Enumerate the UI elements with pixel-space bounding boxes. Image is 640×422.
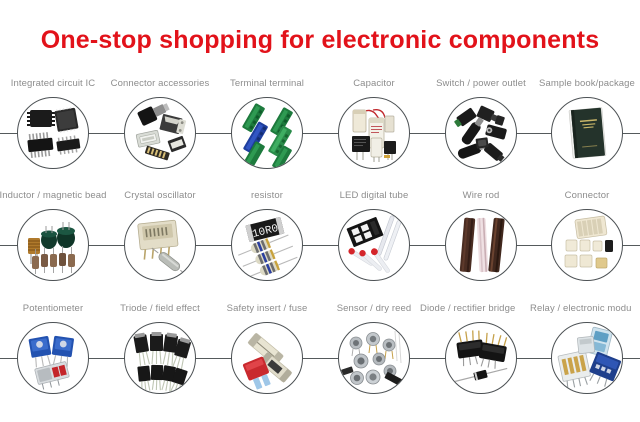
category-cell-crystal-oscillator[interactable]: Crystal oscillator (107, 190, 213, 302)
sample-book-icon (551, 97, 623, 169)
inductor-bead-icon (17, 209, 89, 281)
category-row: Inductor / magnetic bead (0, 190, 640, 302)
wire-rod-icon (445, 209, 517, 281)
category-cell-connector-accessories[interactable]: Connector accessories (107, 78, 213, 190)
category-label: Relay / electronic modu (524, 303, 640, 315)
category-cell-triode-field-effect[interactable]: Triode / field effect (107, 303, 213, 415)
category-cell-inductor-magnetic-bead[interactable]: Inductor / magnetic bead (0, 190, 106, 302)
connector-accessories-icon (124, 97, 196, 169)
category-cell-potentiometer[interactable]: Potentiometer (0, 303, 106, 415)
relay-module-icon (551, 322, 623, 394)
category-cell-safety-insert-fuse[interactable]: Safety insert / fuse (214, 303, 320, 415)
resistor-icon: 10R0 (231, 209, 303, 281)
category-row: Integrated circuit IC (0, 78, 640, 190)
category-cell-capacitor[interactable]: Capacitor (321, 78, 427, 190)
category-cell-switch-power-outlet[interactable]: Switch / power outlet (428, 78, 534, 190)
category-cell-sample-book-package[interactable]: Sample book/package (534, 78, 640, 190)
sensor-reed-icon (338, 322, 410, 394)
category-row: Potentiometer (0, 303, 640, 415)
connector-icon (551, 209, 623, 281)
crystal-oscillator-icon (124, 209, 196, 281)
diode-rectifier-bridge-icon (445, 322, 517, 394)
terminal-blocks-icon (231, 97, 303, 169)
category-cell-connector[interactable]: Connector (534, 190, 640, 302)
page-title: One-stop shopping for electronic compone… (0, 26, 640, 55)
category-cell-relay-electronic-module[interactable]: Relay / electronic modu (534, 303, 640, 415)
triode-fet-icon (124, 322, 196, 394)
capacitors-icon (338, 97, 410, 169)
category-cell-sensor-dry-reed[interactable]: Sensor / dry reed (321, 303, 427, 415)
category-cell-integrated-circuit-ic[interactable]: Integrated circuit IC (0, 78, 106, 190)
category-cell-terminal-terminal[interactable]: Terminal terminal (214, 78, 320, 190)
product-category-banner: One-stop shopping for electronic compone… (0, 0, 640, 422)
switch-power-outlet-icon (445, 97, 517, 169)
potentiometer-icon (17, 322, 89, 394)
ic-chips-icon (17, 97, 89, 169)
fuse-icon (231, 322, 303, 394)
category-cell-wire-rod[interactable]: Wire rod (428, 190, 534, 302)
category-label: Connector (524, 190, 640, 202)
category-cell-diode-rectifier-bridge[interactable]: Diode / rectifier bridge (428, 303, 534, 415)
category-label: Sample book/package (524, 78, 640, 90)
category-cell-led-digital-tube[interactable]: LED digital tube (321, 190, 427, 302)
category-cell-resistor[interactable]: resistor 10R0 (214, 190, 320, 302)
led-digital-tube-icon (338, 209, 410, 281)
